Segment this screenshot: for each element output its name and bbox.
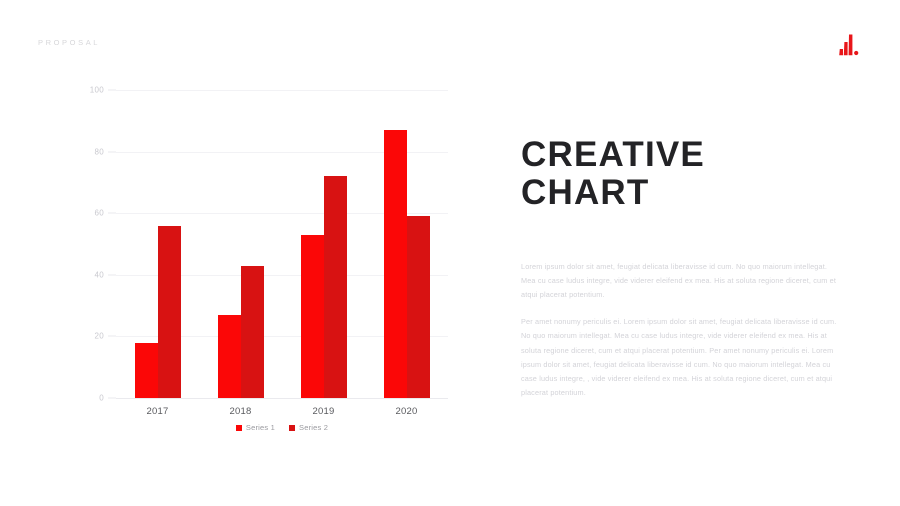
slide: PROPOSAL 100 80 60 40 20 0 [0,0,900,506]
legend-swatch-icon [289,425,295,431]
bar-series1-2018[interactable] [218,315,241,398]
bar-group-2017 [116,90,199,398]
y-tick-mark [108,90,116,91]
plot-area [116,90,448,398]
legend-label: Series 1 [246,423,275,432]
page-title: CREATIVE CHART [521,136,837,212]
y-tick-label: 100 [90,86,104,95]
bar-group-2019 [282,90,365,398]
bar-groups [116,90,448,398]
legend-item-series1[interactable]: Series 1 [236,423,275,432]
bar-group-2020 [365,90,448,398]
brand-logo [836,33,864,59]
y-tick-label: 0 [99,394,104,403]
y-axis: 100 80 60 40 20 0 [60,90,116,398]
y-tick-mark [108,336,116,337]
bar-series2-2019[interactable] [324,176,347,398]
legend-swatch-icon [236,425,242,431]
bar-series2-2018[interactable] [241,266,264,398]
x-tick-label-2019: 2019 [282,398,365,417]
bar-series1-2020[interactable] [384,130,407,398]
y-tick-label: 20 [95,332,105,341]
page-title-line-2: CHART [521,174,837,212]
paragraph-1: Lorem ipsum dolor sit amet, feugiat deli… [521,260,837,303]
x-tick-label-2017: 2017 [116,398,199,417]
y-tick-label: 60 [95,209,105,218]
body-copy: Lorem ipsum dolor sit amet, feugiat deli… [521,260,837,401]
slide-kicker: PROPOSAL [38,38,100,47]
bar-chart: 100 80 60 40 20 0 [60,90,460,445]
bar-series2-2020[interactable] [407,216,430,398]
y-tick-label: 80 [95,147,105,156]
legend-label: Series 2 [299,423,328,432]
paragraph-2: Per amet nonumy periculis ei. Lorem ipsu… [521,315,837,400]
y-tick-mark [108,213,116,214]
y-tick-label: 40 [95,270,105,279]
y-tick-mark [108,398,116,399]
y-tick-mark [108,274,116,275]
page-title-line-1: CREATIVE [521,136,837,174]
x-tick-label-2020: 2020 [365,398,448,417]
x-axis: 2017 2018 2019 2020 [116,398,448,417]
chart-legend: Series 1 Series 2 [116,423,448,432]
bar-series1-2017[interactable] [135,343,158,398]
y-tick-mark [108,151,116,152]
x-tick-label-2018: 2018 [199,398,282,417]
text-column: CREATIVE CHART Lorem ipsum dolor sit ame… [521,136,837,401]
bar-series2-2017[interactable] [158,226,181,398]
bar-group-2018 [199,90,282,398]
legend-item-series2[interactable]: Series 2 [289,423,328,432]
bar-series1-2019[interactable] [301,235,324,398]
